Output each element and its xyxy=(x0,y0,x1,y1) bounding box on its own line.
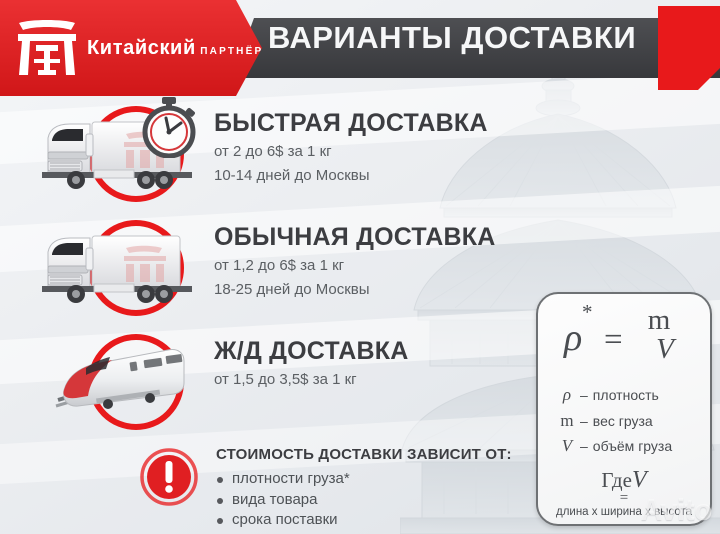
option-price: от 1,5 до 3,5$ за 1 кг xyxy=(214,369,409,391)
definition-text: плотность xyxy=(593,385,659,406)
poster-header: Китайский ПАРТНЁР ВАРИАНТЫ ДОСТАВКИ xyxy=(0,0,720,96)
page-title: ВАРИАНТЫ ДОСТАВКИ xyxy=(268,20,698,56)
list-item: вида товара xyxy=(216,490,512,511)
rail-text-block: Ж/Д ДОСТАВКА от 1,5 до 3,5$ за 1 кг xyxy=(214,338,409,391)
chinese-gate-icon xyxy=(16,18,78,78)
definition-text: объём груза xyxy=(593,436,672,457)
option-price: от 1,2 до 6$ за 1 кг xyxy=(214,255,495,277)
definition-dash: – xyxy=(580,411,588,432)
cost-factors-body: СТОИМОСТЬ ДОСТАВКИ ЗАВИСИТ ОТ: плотности… xyxy=(216,446,512,531)
express-text-block: БЫСТРАЯ ДОСТАВКА от 2 до 6$ за 1 кг 10-1… xyxy=(214,110,488,187)
delivery-option-rail: Ж/Д ДОСТАВКА от 1,5 до 3,5$ за 1 кг xyxy=(0,330,560,440)
option-time: 10-14 дней до Москвы xyxy=(214,165,488,187)
definition-dash: – xyxy=(580,385,588,406)
brand-logo: Китайский ПАРТНЁР xyxy=(0,0,263,96)
formula-expression: * ρ = m V xyxy=(538,294,710,380)
where-equals: = xyxy=(538,494,710,503)
where-label: Где xyxy=(601,468,632,492)
list-item: плотности груза* xyxy=(216,469,512,490)
definition-symbol: m xyxy=(554,408,580,434)
definition-text: вес груза xyxy=(593,411,653,432)
standard-vehicle-graphic xyxy=(34,216,206,320)
definition-symbol: V xyxy=(554,433,580,459)
rail-vehicle-graphic xyxy=(34,330,206,434)
cost-factors-note: СТОИМОСТЬ ДОСТАВКИ ЗАВИСИТ ОТ: плотности… xyxy=(0,440,520,534)
density-formula-card: * ρ = m V ρ – плотность m – вес груза V xyxy=(536,292,712,526)
brand-name-main: Китайский xyxy=(87,37,196,59)
cost-factors-title: СТОИМОСТЬ ДОСТАВКИ ЗАВИСИТ ОТ: xyxy=(216,446,512,463)
option-price: от 2 до 6$ за 1 кг xyxy=(214,141,488,163)
definition-row: m – вес груза xyxy=(554,408,710,434)
definition-dash: – xyxy=(580,436,588,457)
formula-equals-sign: = xyxy=(604,322,623,359)
stopwatch-icon xyxy=(140,96,198,158)
delivery-option-standard: ОБЫЧНАЯ ДОСТАВКА от 1,2 до 6$ за 1 кг 18… xyxy=(0,216,560,326)
delivery-options-poster: Китайский ПАРТНЁР ВАРИАНТЫ ДОСТАВКИ xyxy=(0,0,720,534)
brand-name: Китайский ПАРТНЁР xyxy=(87,38,263,58)
option-title: ОБЫЧНАЯ ДОСТАВКА xyxy=(214,224,495,250)
truck-icon xyxy=(34,218,206,318)
delivery-option-express: БЫСТРАЯ ДОСТАВКА от 2 до 6$ за 1 кг 10-1… xyxy=(0,102,560,212)
formula-numerator: m xyxy=(648,304,671,336)
formula-asterisk: * xyxy=(582,300,593,325)
express-vehicle-graphic xyxy=(34,102,206,206)
definition-symbol: ρ xyxy=(554,382,580,408)
formula-volume-note: ГдеV = длина х ширина х высота xyxy=(538,467,710,518)
formula-denominator: V xyxy=(656,333,674,365)
exclamation-icon xyxy=(140,448,198,506)
formula-definitions: ρ – плотность m – вес груза V – объём гр… xyxy=(554,382,710,459)
formula-rho-symbol: ρ xyxy=(564,316,582,360)
volume-formula-text: длина х ширина х высота xyxy=(538,506,710,518)
option-time: 18-25 дней до Москвы xyxy=(214,279,495,301)
option-title: Ж/Д ДОСТАВКА xyxy=(214,338,409,364)
option-title: БЫСТРАЯ ДОСТАВКА xyxy=(214,110,488,136)
standard-text-block: ОБЫЧНАЯ ДОСТАВКА от 1,2 до 6$ за 1 кг 18… xyxy=(214,224,495,301)
definition-row: V – объём груза xyxy=(554,433,710,459)
definition-row: ρ – плотность xyxy=(554,382,710,408)
train-icon xyxy=(34,332,206,432)
list-item: срока поставки xyxy=(216,510,512,531)
brand-name-sub: ПАРТНЁР xyxy=(200,46,263,57)
formula-fraction: m V xyxy=(640,306,690,364)
cost-factors-list: плотности груза* вида товара срока поста… xyxy=(216,469,512,531)
where-symbol: V xyxy=(632,467,647,493)
